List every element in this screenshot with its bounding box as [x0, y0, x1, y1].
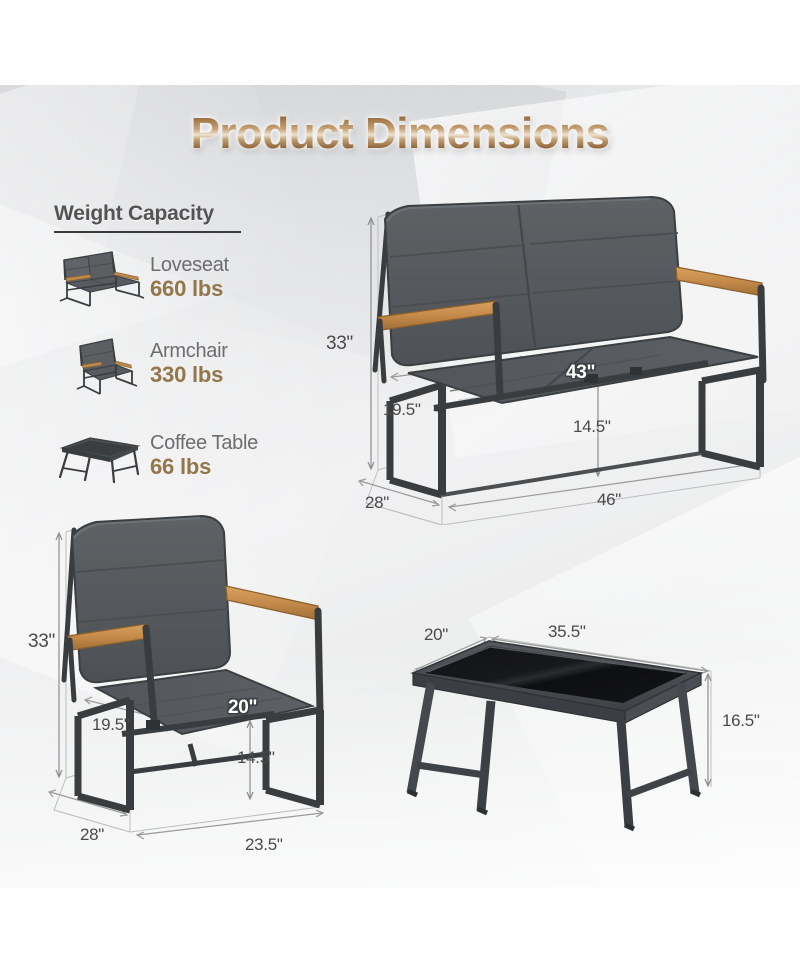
weight-capacity-item-loveseat: Loveseat 660 lbs — [54, 245, 306, 311]
page-title: Product Dimensions — [0, 112, 800, 156]
coffee-table-dim-depth: 20" — [424, 625, 448, 645]
loveseat-diagram — [330, 195, 800, 525]
weight-capacity-loveseat-text: Loveseat 660 lbs — [146, 255, 229, 301]
armchair-dim-seat-height: 14.5" — [237, 748, 275, 768]
armchair-dim-width: 23.5" — [245, 835, 283, 855]
loveseat-dim-width: 46" — [597, 490, 621, 510]
weight-capacity-coffee-table-text: Coffee Table 66 lbs — [146, 433, 258, 479]
coffee-table-diagram — [395, 605, 765, 885]
weight-capacity-heading: Weight Capacity — [54, 202, 306, 226]
armchair-dim-seat-depth: 19.5" — [92, 715, 130, 735]
armchair-dim-height: 33" — [28, 631, 55, 653]
weight-capacity-item-name: Loveseat — [150, 255, 229, 276]
coffee-table-dim-width: 35.5" — [548, 622, 586, 642]
weight-capacity-item-name: Coffee Table — [150, 433, 258, 454]
weight-capacity-item-name: Armchair — [150, 341, 228, 362]
coffee-table-icon — [54, 424, 146, 488]
armchair-dim-seat-width: 20" — [228, 697, 257, 719]
armchair-icon — [54, 332, 146, 396]
coffee-table-dim-height: 16.5" — [722, 711, 760, 731]
loveseat-dim-height: 33" — [326, 333, 353, 355]
weight-capacity-divider — [54, 231, 241, 233]
armchair-dim-depth: 28" — [80, 825, 104, 845]
loveseat-dim-seat-width: 43" — [566, 362, 595, 384]
product-dimensions-infographic: Product Dimensions Weight Capacity — [0, 0, 800, 977]
weight-capacity-item-weight: 330 lbs — [150, 362, 228, 387]
weight-capacity-section: Weight Capacity — [54, 202, 306, 489]
loveseat-dim-seat-depth: 19.5" — [383, 400, 421, 420]
loveseat-dim-seat-height: 14.5" — [573, 417, 611, 437]
weight-capacity-item-coffee-table: Coffee Table 66 lbs — [54, 423, 306, 489]
weight-capacity-item-weight: 66 lbs — [150, 454, 258, 479]
weight-capacity-item-weight: 660 lbs — [150, 276, 229, 301]
weight-capacity-item-armchair: Armchair 330 lbs — [54, 331, 306, 397]
loveseat-icon — [54, 246, 146, 310]
